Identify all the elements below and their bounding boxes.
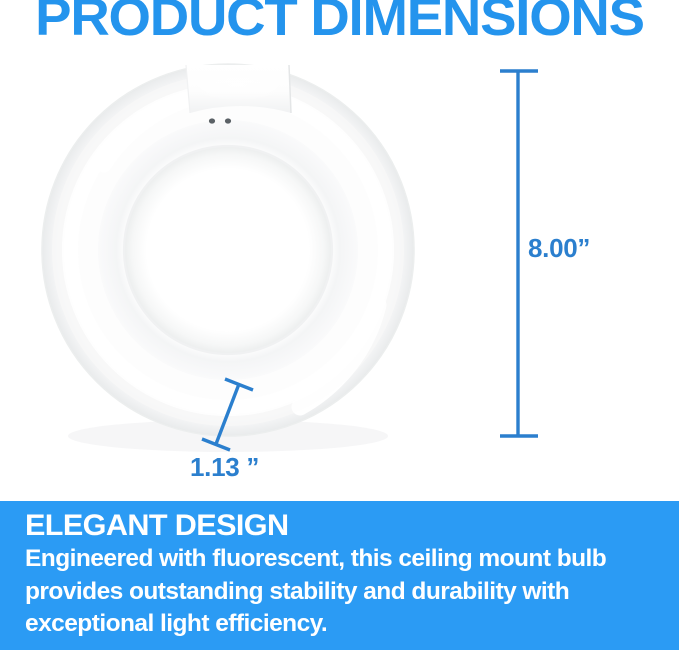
page-title: PRODUCT DIMENSIONS (0, 0, 679, 47)
product-dimensions-infographic: PRODUCT DIMENSIONS (0, 0, 679, 650)
circular-fluorescent-bulb-illustration (0, 55, 480, 495)
feature-description: Engineered with fluorescent, this ceilin… (25, 543, 665, 641)
bulb-base-connector (184, 65, 292, 113)
feature-heading: ELEGANT DESIGN (25, 509, 288, 543)
height-dimension-line (500, 71, 538, 436)
feature-description-line: exceptional light efficiency. (25, 608, 665, 641)
feature-description-line: provides outstanding stability and durab… (25, 576, 665, 609)
feature-description-line: Engineered with fluorescent, this ceilin… (25, 543, 665, 576)
height-dimension-label: 8.00” (528, 233, 590, 264)
feature-banner: ELEGANT DESIGN Engineered with fluoresce… (0, 501, 679, 650)
product-image (0, 55, 480, 495)
